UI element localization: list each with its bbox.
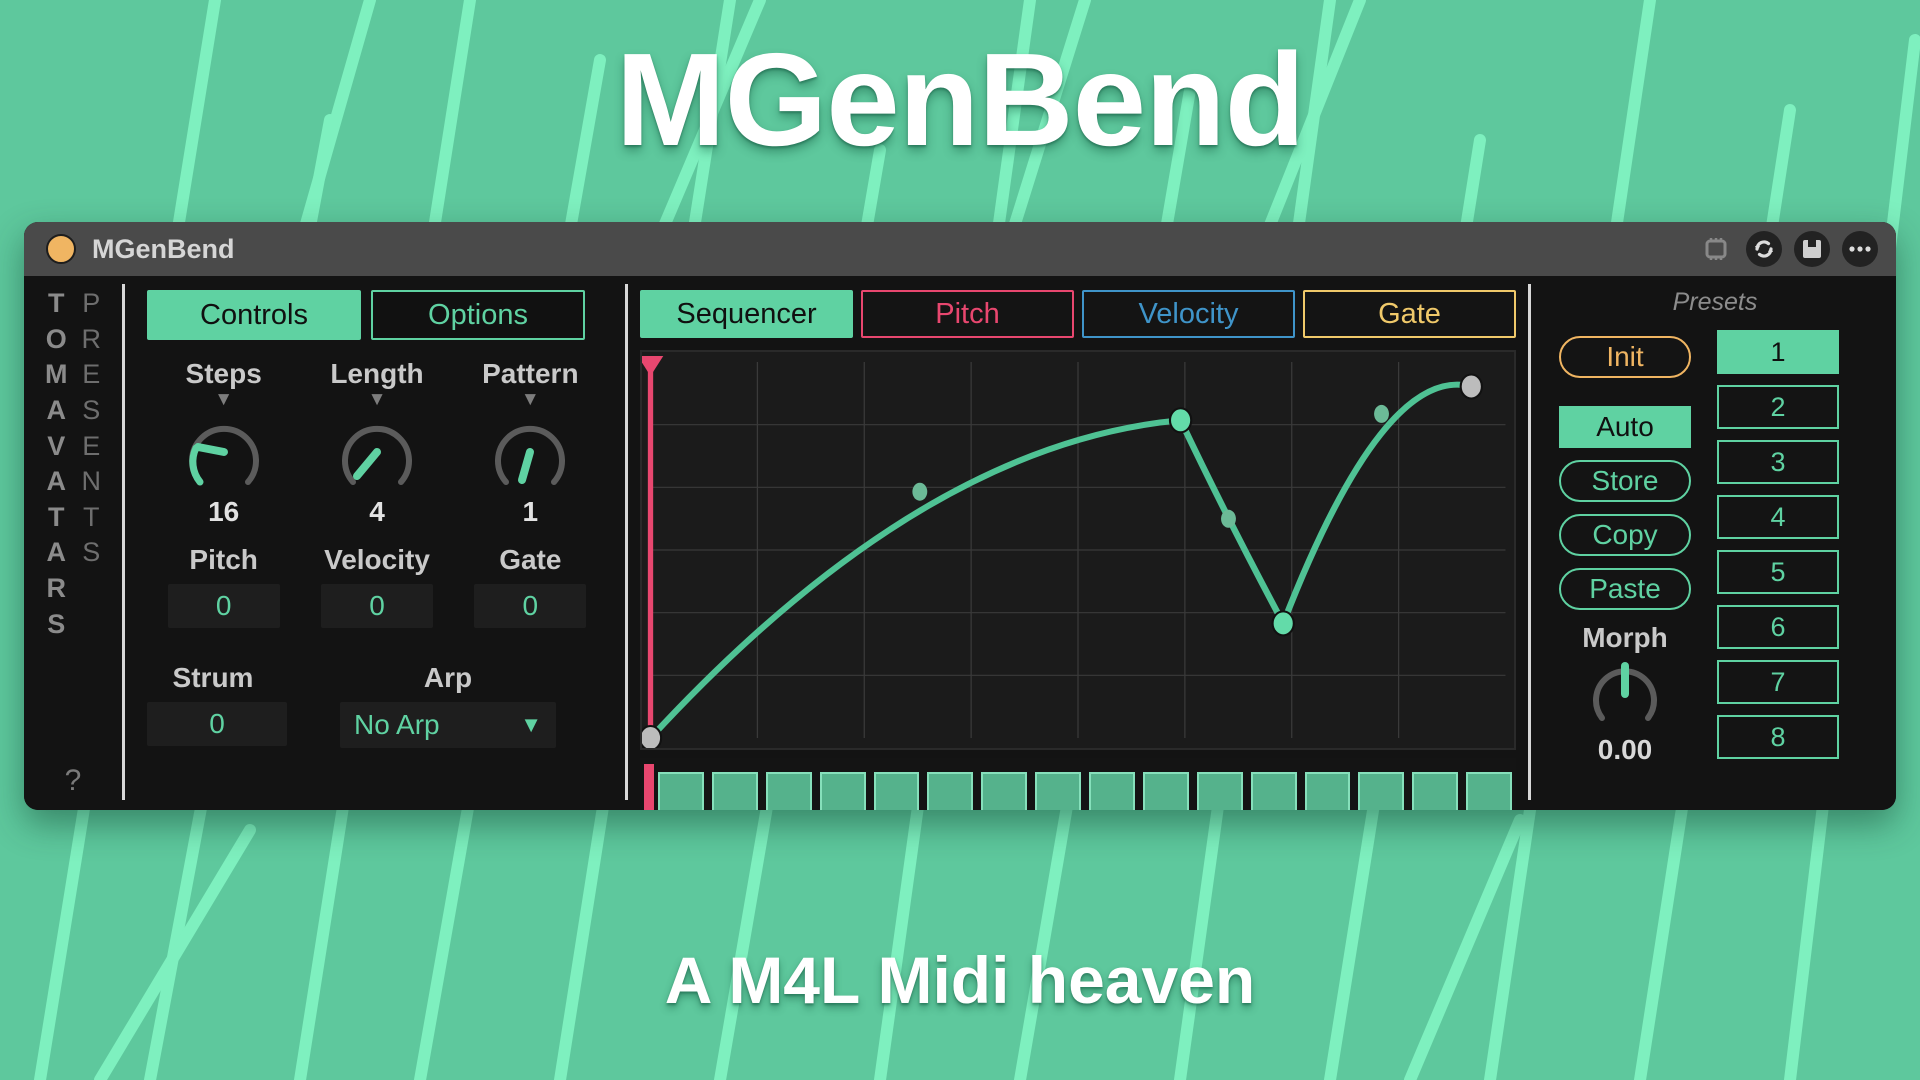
promo-tagline: A M4L Midi heaven: [0, 942, 1920, 1018]
controls-tab-row: Controls Options: [147, 290, 607, 340]
brand-column-presents: P R E S E N T S: [82, 286, 102, 642]
brand-letter: V: [47, 429, 65, 465]
knob-value: 1: [454, 496, 607, 528]
step-bar[interactable]: [658, 772, 704, 810]
knob-label: Steps: [147, 358, 300, 390]
step-bar-strip[interactable]: [640, 758, 1516, 810]
knob-value: 16: [147, 496, 300, 528]
field-gate: Gate 0: [454, 544, 607, 628]
knob-value: 4: [300, 496, 453, 528]
tab-gate[interactable]: Gate: [1303, 290, 1516, 338]
field-label: Gate: [454, 544, 607, 576]
step-bar[interactable]: [981, 772, 1027, 810]
curve-anchor-node[interactable]: [1461, 374, 1482, 398]
presets-panel: Presets Init Auto Store Copy Paste Morph: [1531, 276, 1896, 810]
field-strum: Strum 0: [147, 662, 279, 748]
tab-sequencer[interactable]: Sequencer: [640, 290, 853, 338]
step-bar[interactable]: [1089, 772, 1135, 810]
store-button[interactable]: Store: [1559, 460, 1691, 502]
curve-handle-node[interactable]: [1374, 405, 1389, 423]
save-disk-icon[interactable]: [1794, 231, 1830, 267]
knob-label: Pattern: [454, 358, 607, 390]
offset-field-row: Pitch 0 Velocity 0 Gate 0: [147, 544, 607, 628]
preset-actions: Init Auto Store Copy Paste Morph: [1531, 288, 1717, 810]
knob-dial[interactable]: [300, 410, 453, 494]
curve-path: [651, 385, 1472, 738]
step-bar[interactable]: [1305, 772, 1351, 810]
field-label: Strum: [147, 662, 279, 694]
morph-label: Morph: [1559, 622, 1691, 654]
step-bar[interactable]: [927, 772, 973, 810]
velocity-input[interactable]: 0: [321, 584, 433, 628]
brand-letter: T: [48, 500, 65, 536]
step-bar[interactable]: [874, 772, 920, 810]
strum-input[interactable]: 0: [147, 702, 287, 746]
morph-control: Morph 0.00: [1559, 622, 1691, 766]
brand-letter: P: [82, 286, 100, 322]
presets-title: Presets: [1531, 288, 1896, 317]
help-button[interactable]: ?: [24, 764, 122, 798]
playhead: [642, 356, 663, 738]
brand-letter: E: [82, 429, 100, 465]
field-label: Arp: [323, 662, 573, 694]
gate-input[interactable]: 0: [474, 584, 586, 628]
arp-dropdown-value: No Arp: [354, 709, 440, 741]
promo-title: MGenBend: [0, 24, 1920, 175]
brand-letter: T: [48, 286, 65, 322]
plugin-window: MGenBend: [24, 222, 1896, 810]
window-title: MGenBend: [92, 234, 235, 265]
morph-value: 0.00: [1559, 734, 1691, 766]
preset-slot-3[interactable]: 3: [1717, 440, 1839, 484]
preset-slot-8[interactable]: 8: [1717, 715, 1839, 759]
step-bar[interactable]: [766, 772, 812, 810]
knob-caret-icon: ▼: [147, 392, 300, 408]
knob-caret-icon: ▼: [454, 392, 607, 408]
knob-row: Steps ▼ 16 Length ▼: [147, 358, 607, 528]
preset-slot-6[interactable]: 6: [1717, 605, 1839, 649]
brand-letter: R: [47, 571, 67, 607]
tab-velocity[interactable]: Velocity: [1082, 290, 1295, 338]
chevron-down-icon: ▼: [520, 712, 542, 738]
step-bar[interactable]: [1358, 772, 1404, 810]
preset-slot-2[interactable]: 2: [1717, 385, 1839, 429]
arp-dropdown[interactable]: No Arp ▼: [340, 702, 556, 748]
brand-letter: E: [82, 357, 100, 393]
window-titlebar: MGenBend: [24, 222, 1896, 276]
field-pitch: Pitch 0: [147, 544, 300, 628]
step-bar[interactable]: [712, 772, 758, 810]
preset-slot-7[interactable]: 7: [1717, 660, 1839, 704]
brand-letter: A: [47, 535, 67, 571]
step-bar[interactable]: [1251, 772, 1297, 810]
knob-pattern: Pattern ▼ 1: [454, 358, 607, 528]
brand-letter: N: [82, 464, 102, 500]
paste-button[interactable]: Paste: [1559, 568, 1691, 610]
preset-slot-list: 12345678: [1717, 288, 1867, 810]
tab-controls[interactable]: Controls: [147, 290, 361, 340]
knob-length: Length ▼ 4: [300, 358, 453, 528]
step-bar[interactable]: [820, 772, 866, 810]
brand-letter: S: [82, 393, 100, 429]
field-arp: Arp No Arp ▼: [323, 662, 573, 748]
field-label: Velocity: [300, 544, 453, 576]
playhead-marker: [644, 764, 654, 810]
titlebar-icon-group: [1698, 231, 1878, 267]
preset-slot-5[interactable]: 5: [1717, 550, 1839, 594]
knob-caret-icon: ▼: [300, 392, 453, 408]
knob-steps: Steps ▼ 16: [147, 358, 300, 528]
curve-anchor-node[interactable]: [642, 726, 661, 748]
curve-anchor-node[interactable]: [1170, 408, 1191, 432]
step-bar[interactable]: [1035, 772, 1081, 810]
brand-letter: A: [47, 393, 67, 429]
brand-letter: A: [47, 464, 67, 500]
brand-letter: O: [46, 322, 67, 358]
status-led: [46, 234, 76, 264]
step-bars[interactable]: [658, 764, 1512, 810]
knob-dial[interactable]: [147, 410, 300, 494]
brand-strip: T O M A V A T A R S P R E: [24, 276, 122, 810]
preset-slot-1[interactable]: 1: [1717, 330, 1839, 374]
curve-anchor-node[interactable]: [1273, 611, 1294, 635]
brand-letter: S: [82, 535, 100, 571]
plugin-body: T O M A V A T A R S P R E: [24, 276, 1896, 810]
curve-canvas[interactable]: [642, 352, 1514, 748]
preset-slot-4[interactable]: 4: [1717, 495, 1839, 539]
curve-handle-node[interactable]: [1221, 510, 1236, 528]
refresh-icon[interactable]: [1746, 231, 1782, 267]
auto-button[interactable]: Auto: [1559, 406, 1691, 448]
knob-label: Length: [300, 358, 453, 390]
step-bar[interactable]: [1412, 772, 1458, 810]
sequencer-tab-row: Sequencer Pitch Velocity Gate: [640, 290, 1516, 338]
device-chip-icon[interactable]: [1698, 231, 1734, 267]
brand-letter: R: [82, 322, 102, 358]
field-label: Pitch: [147, 544, 300, 576]
brand-column-tomavatars: T O M A V A T A R S: [45, 286, 68, 642]
pitch-input[interactable]: 0: [168, 584, 280, 628]
knob-dial[interactable]: [454, 410, 607, 494]
tab-options[interactable]: Options: [371, 290, 585, 340]
strum-arp-row: Strum 0 Arp No Arp ▼: [147, 662, 607, 748]
more-options-icon[interactable]: [1842, 231, 1878, 267]
sequencer-panel: Sequencer Pitch Velocity Gate: [628, 276, 1528, 810]
step-bar[interactable]: [1197, 772, 1243, 810]
step-bar[interactable]: [1466, 772, 1512, 810]
field-velocity: Velocity 0: [300, 544, 453, 628]
brand-letter: M: [45, 357, 68, 393]
brand-letter: S: [47, 607, 65, 643]
curve-editor[interactable]: [640, 350, 1516, 750]
morph-dial[interactable]: [1559, 654, 1691, 733]
controls-panel: Controls Options Steps ▼: [125, 276, 625, 810]
copy-button[interactable]: Copy: [1559, 514, 1691, 556]
curve-handle-node[interactable]: [912, 483, 927, 501]
promo-backdrop: MGenBend MGenBend: [0, 0, 1920, 1080]
init-button[interactable]: Init: [1559, 336, 1691, 378]
tab-pitch[interactable]: Pitch: [861, 290, 1074, 338]
brand-letter: T: [83, 500, 100, 536]
step-bar[interactable]: [1143, 772, 1189, 810]
